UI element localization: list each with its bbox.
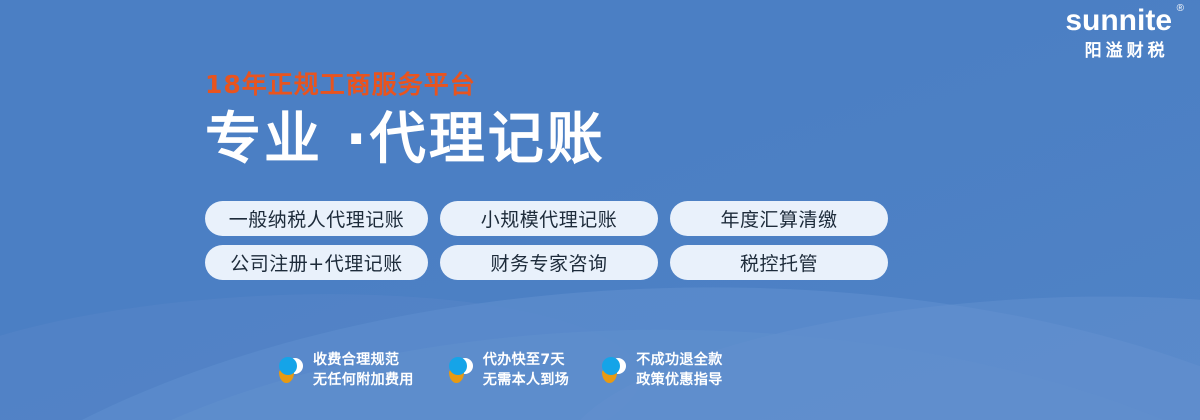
brand-wordmark-text: sunnite — [1065, 4, 1172, 37]
feature-line-2: 无任何附加费用 — [313, 370, 414, 390]
feature-line-1: 收费合理规范 — [313, 350, 414, 370]
hero-eyebrow: 18年正规工商服务平台 — [205, 72, 606, 97]
service-pill-tax-control-custody[interactable]: 税控托管 — [670, 245, 888, 280]
feature-item-guarantee: 不成功退全款 政策优惠指导 — [601, 350, 722, 391]
service-pill-annual-settlement[interactable]: 年度汇算清缴 — [670, 201, 888, 236]
feature-strip: 收费合理规范 无任何附加费用 代办快至7天 无需本人到场 不成功退全款 — [278, 350, 723, 391]
service-pill-row-1: 一般纳税人代理记账 小规模代理记账 年度汇算清缴 — [205, 201, 888, 236]
hero-banner: sunnite ® 阳溢财税 18年正规工商服务平台 专业 ·代理记账 一般纳税… — [0, 0, 1200, 420]
circle-crescent-icon — [278, 355, 304, 385]
service-pill-row-2: 公司注册+代理记账 财务专家咨询 税控托管 — [205, 245, 888, 280]
background-sweep-primary — [0, 264, 1200, 420]
feature-text-speed: 代办快至7天 无需本人到场 — [483, 350, 569, 391]
registered-trademark-icon: ® — [1177, 4, 1184, 14]
service-pill-general-taxpayer[interactable]: 一般纳税人代理记账 — [205, 201, 428, 236]
background-sweep-right — [552, 269, 1200, 420]
feature-line-2: 政策优惠指导 — [636, 370, 722, 390]
background-sweep-left — [0, 276, 645, 420]
feature-line-2: 无需本人到场 — [483, 370, 569, 390]
feature-text-pricing: 收费合理规范 无任何附加费用 — [313, 350, 414, 391]
page-title: 专业 ·代理记账 — [205, 111, 606, 170]
circle-crescent-icon — [601, 355, 627, 385]
hero-headline-group: 18年正规工商服务平台 专业 ·代理记账 — [205, 72, 606, 170]
dot-shape — [449, 357, 467, 375]
service-pill-finance-consulting[interactable]: 财务专家咨询 — [440, 245, 658, 280]
brand-chinese-name: 阳溢财税 — [1065, 42, 1184, 59]
circle-crescent-icon — [448, 355, 474, 385]
feature-line-1: 代办快至7天 — [483, 350, 569, 370]
feature-item-speed: 代办快至7天 无需本人到场 — [448, 350, 569, 391]
feature-item-pricing: 收费合理规范 无任何附加费用 — [278, 350, 414, 391]
feature-text-guarantee: 不成功退全款 政策优惠指导 — [636, 350, 722, 391]
service-pill-small-scale[interactable]: 小规模代理记账 — [440, 201, 658, 236]
brand-wordmark: sunnite ® — [1065, 6, 1184, 36]
service-pill-grid: 一般纳税人代理记账 小规模代理记账 年度汇算清缴 公司注册+代理记账 财务专家咨… — [205, 201, 888, 280]
service-pill-company-registration[interactable]: 公司注册+代理记账 — [205, 245, 428, 280]
brand-logo[interactable]: sunnite ® 阳溢财税 — [1065, 6, 1184, 59]
feature-line-1: 不成功退全款 — [636, 350, 722, 370]
